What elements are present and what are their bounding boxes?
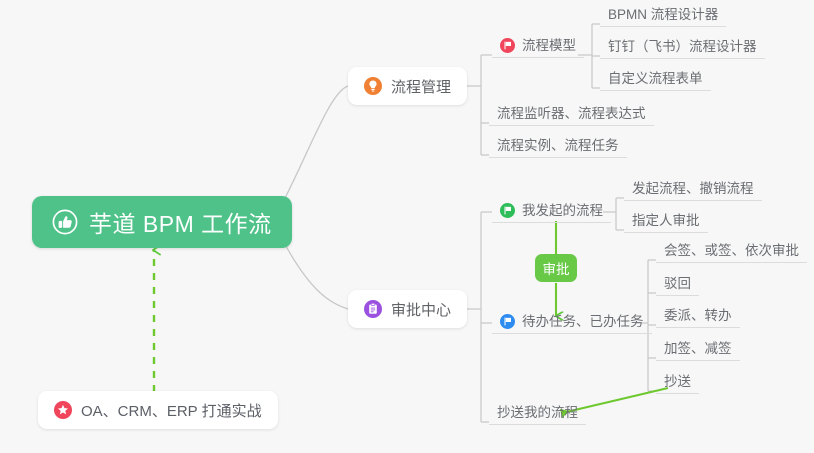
node-delegate-transfer[interactable]: 委派、转办 [656, 306, 740, 328]
branch-label-process-management: 流程管理 [391, 76, 451, 97]
node-process-listener-expression[interactable]: 流程监听器、流程表达式 [489, 104, 654, 126]
node-label-my-initiated-process: 我发起的流程 [522, 204, 603, 218]
node-label-process-listener-expression: 流程监听器、流程表达式 [497, 107, 646, 121]
mindmap-canvas: 芋道 BPM 工作流 流程管理 流程模型 BPMN 流程设计器 钉钉（飞书）流程 [0, 0, 814, 453]
clipboard-icon [364, 300, 382, 318]
annotation-tag-approval: 审批 [535, 254, 577, 282]
flag-icon [500, 38, 515, 53]
annotation-tag-approval-label: 审批 [543, 258, 570, 278]
node-custom-process-form[interactable]: 自定义流程表单 [600, 69, 711, 91]
node-label-reject: 驳回 [664, 277, 691, 291]
node-my-initiated-process[interactable]: 我发起的流程 [492, 201, 611, 223]
node-label-countersign-orsign-sequential: 会签、或签、依次审批 [664, 244, 799, 258]
node-label-cc-to-me-process: 抄送我的流程 [497, 406, 578, 420]
node-reject[interactable]: 驳回 [656, 274, 699, 296]
node-process-model[interactable]: 流程模型 [492, 36, 584, 58]
connector-root-to-approval-center [281, 237, 348, 309]
node-designated-approver[interactable]: 指定人审批 [624, 211, 708, 233]
node-add-remove-sign[interactable]: 加签、减签 [656, 339, 740, 361]
node-start-cancel-process[interactable]: 发起流程、撤销流程 [624, 179, 762, 201]
node-todo-done-tasks[interactable]: 待办任务、已办任务 [492, 312, 652, 334]
branch-node-process-management[interactable]: 流程管理 [348, 67, 467, 105]
node-label-delegate-transfer: 委派、转办 [664, 309, 732, 323]
node-countersign-orsign-sequential[interactable]: 会签、或签、依次审批 [656, 241, 807, 263]
flag-icon [500, 203, 515, 218]
node-label-bpmn-designer: BPMN 流程设计器 [608, 8, 718, 22]
node-label-process-instance-task: 流程实例、流程任务 [497, 139, 619, 153]
root-label: 芋道 BPM 工作流 [89, 205, 272, 239]
node-label-custom-process-form: 自定义流程表单 [608, 72, 703, 86]
node-label-start-cancel-process: 发起流程、撤销流程 [632, 182, 754, 196]
node-label-designated-approver: 指定人审批 [632, 214, 700, 228]
node-dingtalk-feishu-designer[interactable]: 钉钉（飞书）流程设计器 [600, 37, 765, 59]
node-bpmn-designer[interactable]: BPMN 流程设计器 [600, 5, 726, 27]
node-label-process-model: 流程模型 [522, 39, 576, 53]
node-cc-to-me-process[interactable]: 抄送我的流程 [489, 403, 586, 425]
branch-node-approval-center[interactable]: 审批中心 [348, 290, 467, 328]
flag-icon [500, 314, 515, 329]
node-carbon-copy[interactable]: 抄送 [656, 372, 699, 394]
footer-node-integration-practice[interactable]: OA、CRM、ERP 打通实战 [38, 391, 278, 429]
connector-root-to-process-management [281, 86, 348, 206]
node-label-dingtalk-feishu-designer: 钉钉（飞书）流程设计器 [608, 40, 757, 54]
footer-node-label: OA、CRM、ERP 打通实战 [81, 400, 262, 421]
lightbulb-icon [364, 77, 382, 95]
node-process-instance-task[interactable]: 流程实例、流程任务 [489, 136, 627, 158]
thumbs-up-icon [52, 209, 78, 235]
root-node[interactable]: 芋道 BPM 工作流 [32, 196, 292, 248]
node-label-carbon-copy: 抄送 [664, 375, 691, 389]
node-label-add-remove-sign: 加签、减签 [664, 342, 732, 356]
star-icon [54, 401, 72, 419]
node-label-todo-done-tasks: 待办任务、已办任务 [522, 315, 644, 329]
branch-label-approval-center: 审批中心 [391, 299, 451, 320]
